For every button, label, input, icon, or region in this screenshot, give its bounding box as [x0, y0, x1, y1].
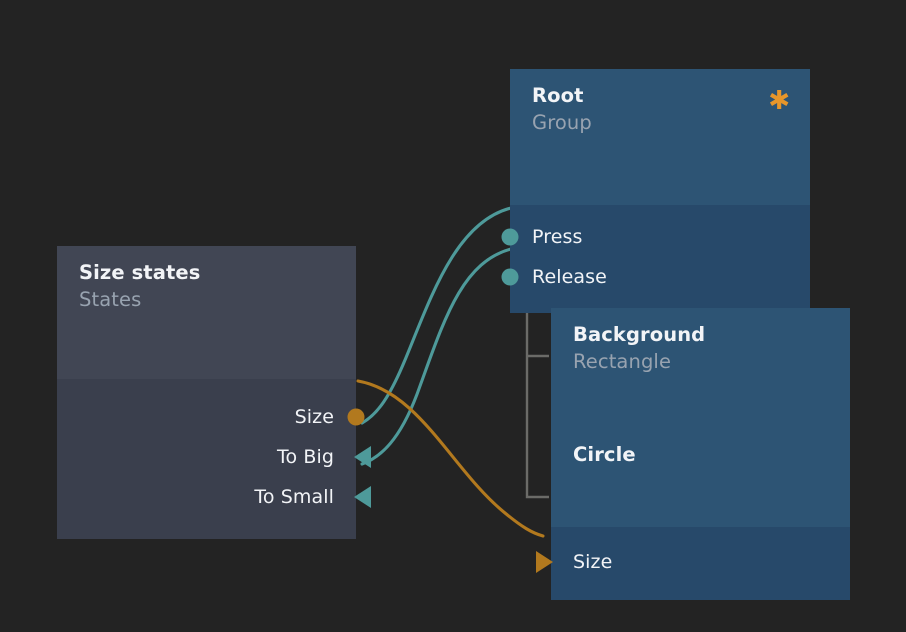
port-label-release: Release [532, 268, 607, 287]
node-size-states-title: Size states [79, 262, 334, 284]
asterisk-icon[interactable]: ✱ [768, 88, 790, 114]
port-label-to-big: To Big [277, 448, 334, 467]
node-circle-ports: Size [551, 527, 850, 600]
port-label-press: Press [532, 228, 583, 247]
node-size-states-subtitle: States [79, 287, 334, 312]
node-size-states[interactable]: Size states States Size To Big To Small [57, 246, 356, 539]
graph-canvas[interactable]: Root Group ✱ Press Release Size states S… [0, 0, 906, 632]
port-label-to-small: To Small [254, 488, 334, 507]
port-row-size-output[interactable]: Size [57, 397, 356, 437]
port-dot-size-output[interactable] [348, 409, 365, 426]
node-root[interactable]: Root Group ✱ Press Release [510, 69, 810, 313]
port-label-circle-size: Size [573, 553, 612, 572]
port-dot-release[interactable] [502, 269, 519, 286]
port-row-release[interactable]: Release [510, 257, 810, 297]
node-background-header[interactable]: Background Rectangle [551, 308, 850, 435]
port-row-press[interactable]: Press [510, 217, 810, 257]
node-root-ports: Press Release [510, 205, 810, 313]
wire-size-to-circle-size [358, 381, 543, 536]
tree-connector-line [527, 288, 549, 497]
port-label-size-output: Size [295, 408, 334, 427]
node-circle[interactable]: Circle Size [551, 428, 850, 600]
node-background-title: Background [573, 324, 828, 346]
port-row-circle-size[interactable]: Size [551, 542, 850, 582]
port-row-to-big[interactable]: To Big [57, 437, 356, 477]
node-size-states-ports: Size To Big To Small [57, 379, 356, 539]
port-arrow-to-big[interactable] [354, 446, 371, 468]
wire-release-to-small [362, 249, 511, 464]
node-background-subtitle: Rectangle [573, 349, 828, 374]
node-circle-title: Circle [573, 444, 828, 466]
port-row-to-small[interactable]: To Small [57, 477, 356, 517]
node-root-subtitle: Group [532, 110, 788, 135]
node-root-title: Root [532, 85, 788, 107]
node-circle-header[interactable]: Circle [551, 428, 850, 527]
port-dot-press[interactable] [502, 229, 519, 246]
port-arrow-circle-size[interactable] [536, 551, 553, 573]
node-root-header[interactable]: Root Group ✱ [510, 69, 810, 205]
node-background[interactable]: Background Rectangle [551, 308, 850, 435]
wire-press-to-big [362, 208, 511, 423]
port-arrow-to-small[interactable] [354, 486, 371, 508]
node-size-states-header[interactable]: Size states States [57, 246, 356, 379]
